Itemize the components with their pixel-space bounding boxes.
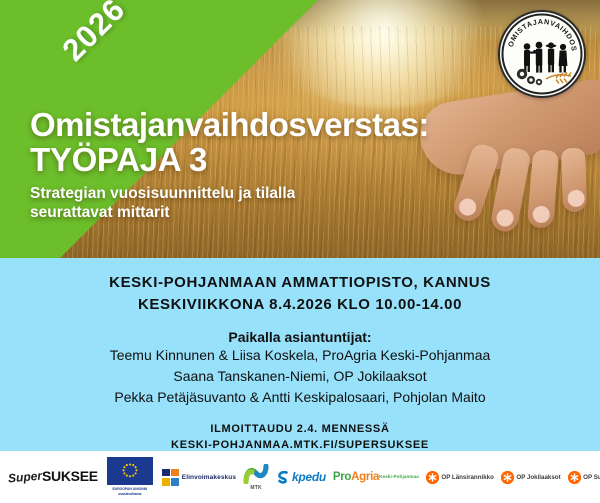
eu-flag-icon: [107, 457, 153, 485]
op-bank-label: OP Suomenselkä: [583, 474, 600, 481]
logo-european-union: EUROOPAN UNIONIN osarahoittama: [105, 457, 155, 496]
op-cross-icon: [426, 471, 439, 484]
fingernail: [457, 196, 478, 217]
elinvoimakeskus-label: Elinvoimakeskus: [182, 474, 236, 481]
elinvoimakeskus-icon: [162, 469, 179, 486]
op-icon: [426, 471, 439, 484]
eu-stars: [107, 457, 153, 485]
signup-deadline: ILMOITTAUDU 2.4. MENNESSÄ: [0, 421, 600, 438]
proagria-agria: Agria: [351, 471, 379, 483]
partner-logo-strip: Super SUKSEE EUROOPAN UNIONIN osarahoitt…: [0, 451, 600, 503]
op-icon: [568, 471, 581, 484]
kpedu-icon: [276, 470, 290, 484]
super-suksee-bottom: SUKSEE: [42, 469, 98, 483]
fingernail: [567, 190, 585, 208]
event-poster: 2026 OMISTAJANVAIHDOSVERSTAS: [0, 0, 600, 503]
op-cross-icon: [501, 471, 514, 484]
badge-graphic: OMISTAJANVAIHDOSVERSTAS: [500, 12, 584, 96]
op-bank-label: OP Länsirannikko: [441, 474, 494, 481]
logo-op-jokilaaksot: OP Jokilaaksot: [501, 471, 561, 484]
hero-description-line2: seurattavat mittarit: [30, 203, 450, 222]
venue-location: KESKI-POHJANMAAN AMMATTIOPISTO, KANNUS: [0, 272, 600, 294]
kpedu-label: kpedu: [292, 470, 326, 484]
logo-op-suomenselka: OP Suomenselkä: [568, 471, 600, 484]
expert-item: Pekka Petäjäsuvanto & Antti Keskipalosaa…: [0, 387, 600, 408]
mtk-label: MTK: [250, 485, 261, 491]
hero-text-block: Omistajanvaihdosverstas: TYÖPAJA 3 Strat…: [30, 108, 450, 222]
expert-item: Teemu Kinnunen & Liisa Koskela, ProAgria…: [0, 345, 600, 366]
mtk-icon: [243, 464, 269, 484]
op-cross-icon: [568, 471, 581, 484]
hand-finger: [527, 149, 560, 229]
logo-mtk: MTK: [243, 464, 269, 491]
logo-kpedu: kpedu: [276, 470, 326, 484]
experts-heading: Paikalla asiantuntijat:: [0, 329, 600, 345]
logo-op-lansirannikko: OP Länsirannikko: [426, 471, 494, 484]
proagria-region: Keski-Pohjanmaa: [379, 475, 419, 480]
logo-proagria: ProAgria Keski-Pohjanmaa: [333, 471, 419, 483]
eu-caption: EUROOPAN UNIONIN osarahoittama: [105, 487, 155, 496]
logo-elinvoimakeskus: Elinvoimakeskus: [162, 469, 236, 486]
proagria-pro: Pro: [333, 471, 351, 483]
logo-super-suksee: Super SUKSEE: [6, 471, 98, 483]
experts-list: Teemu Kinnunen & Liisa Koskela, ProAgria…: [0, 345, 600, 408]
page-subtitle-workshop: TYÖPAJA 3: [30, 143, 450, 178]
fingernail: [532, 205, 550, 223]
super-suksee-top: Super: [8, 470, 43, 485]
hand-finger: [561, 148, 587, 213]
omistajanvaihdosverstas-badge: OMISTAJANVAIHDOSVERSTAS: [498, 10, 586, 98]
event-info-panel: KESKI-POHJANMAAN AMMATTIOPISTO, KANNUS K…: [0, 258, 600, 451]
hero-section: 2026 OMISTAJANVAIHDOSVERSTAS: [0, 0, 600, 258]
fingernail: [495, 208, 515, 228]
page-title: Omistajanvaihdosverstas:: [30, 108, 450, 142]
venue-datetime: KESKIVIIKKONA 8.4.2026 KLO 10.00-14.00: [0, 294, 600, 316]
op-icon: [501, 471, 514, 484]
expert-item: Saana Tanskanen-Niemi, OP Jokilaaksot: [0, 366, 600, 387]
op-bank-label: OP Jokilaaksot: [516, 474, 560, 481]
hero-description-line1: Strategian vuosisuunnittelu ja tilalla: [30, 184, 450, 203]
